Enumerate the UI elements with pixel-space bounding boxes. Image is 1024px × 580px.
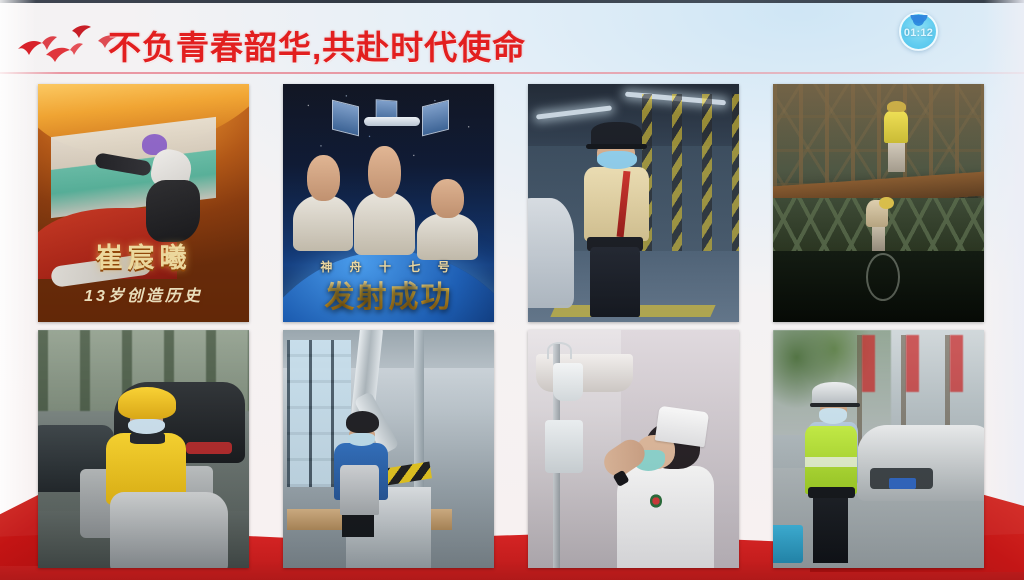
slide-header: 不负青春韶华,共赴时代使命 01:12 <box>0 3 1024 73</box>
timer-value: 01:12 <box>904 27 933 39</box>
scooter <box>110 492 228 568</box>
red-flags <box>862 335 980 392</box>
nurse-figure <box>617 416 714 568</box>
presentation-slide: 不负青春韶华,共赴时代使命 01:12 崔宸曦 13岁创造历史 <box>0 0 1024 580</box>
photo-tile-nurse[interactable] <box>528 330 739 568</box>
photo-tile-scaffolding-workers[interactable] <box>773 84 984 322</box>
factory-worker-figure <box>334 411 389 535</box>
timer-badge[interactable]: 01:12 <box>899 12 938 51</box>
nurse-cap-icon <box>655 406 710 447</box>
astronaut-figure <box>353 146 416 255</box>
photo-tile-factory-worker[interactable] <box>283 330 494 568</box>
security-officer-figure <box>581 122 657 317</box>
poster-headline: 发射成功 <box>283 272 494 316</box>
timer-cap-icon <box>910 15 927 23</box>
iv-bag <box>545 420 583 472</box>
blue-crate <box>773 525 803 563</box>
flying-doves-icon <box>12 15 120 73</box>
photo-tile-traffic-police[interactable] <box>773 330 984 568</box>
page-title: 不负青春韶华,共赴时代使命 <box>108 21 526 69</box>
photo-gallery-grid: 崔宸曦 13岁创造历史 神 舟 十 七 号 发射成功 <box>38 84 986 568</box>
astronaut-figure <box>416 179 479 260</box>
worker-lower-figure <box>866 193 896 250</box>
header-divider <box>0 72 1024 74</box>
traffic-police-figure <box>807 382 862 563</box>
left-sheen <box>0 0 36 580</box>
iv-bag <box>553 363 583 401</box>
photo-tile-shenzhou-17[interactable]: 神 舟 十 七 号 发射成功 <box>283 84 494 322</box>
wall-air-conditioner <box>536 354 633 392</box>
hi-vis-vest <box>805 426 858 495</box>
license-plate <box>889 478 916 490</box>
worker-upper-figure <box>883 101 910 172</box>
astronaut-figure <box>291 155 354 250</box>
poster-athlete-name: 崔宸曦 <box>38 236 249 275</box>
poster-caption: 13岁创造历史 <box>38 282 249 306</box>
photo-tile-transit-officer[interactable] <box>528 84 739 322</box>
right-sheen <box>984 0 1024 580</box>
car <box>857 425 984 501</box>
background-passenger <box>528 198 574 307</box>
photo-tile-delivery-rider[interactable] <box>38 330 249 568</box>
photo-tile-skateboarder[interactable]: 崔宸曦 13岁创造历史 <box>38 84 249 322</box>
space-station-icon <box>329 101 451 144</box>
